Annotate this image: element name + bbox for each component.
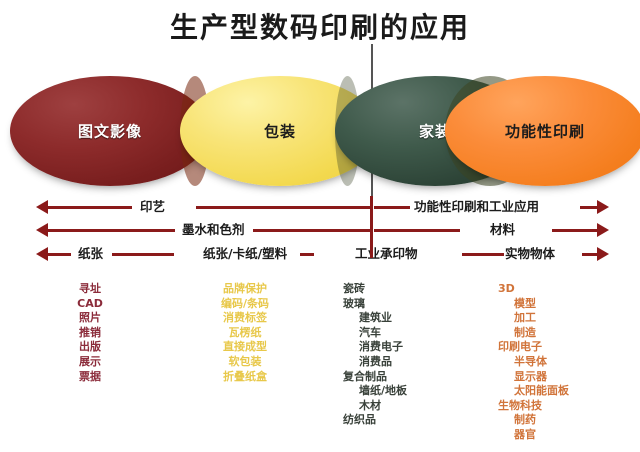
list-item: 消费标签 bbox=[165, 311, 325, 326]
list-item: 直接成型 bbox=[165, 340, 325, 355]
application-columns: 寻址CAD照片推销出版展示票据 品牌保护编码/条码消费标签瓦楞纸直接成型软包装折… bbox=[0, 282, 640, 452]
list-item: 纺织品 bbox=[325, 413, 485, 428]
list-item: CAD bbox=[10, 297, 170, 312]
arrow-label: 纸张/卡纸/塑料 bbox=[203, 243, 287, 264]
list-item: 建筑业 bbox=[325, 311, 485, 326]
list-item: 太阳能面板 bbox=[480, 384, 640, 399]
arrow-segment bbox=[47, 229, 175, 232]
column-baozhuang: 品牌保护编码/条码消费标签瓦楞纸直接成型软包装折叠纸盒 bbox=[165, 282, 325, 384]
list-item: 复合制品 bbox=[325, 370, 485, 385]
arrow-label: 实物物体 bbox=[505, 243, 555, 264]
arrow-label: 墨水和色剂 bbox=[182, 219, 245, 240]
ellipse-gongnengxingyinshua[interactable]: 功能性印刷 bbox=[445, 76, 640, 186]
list-item: 器官 bbox=[480, 428, 640, 443]
list-item: 软包装 bbox=[165, 355, 325, 370]
list-item: 推销 bbox=[10, 326, 170, 341]
list-item: 折叠纸盒 bbox=[165, 370, 325, 385]
arrow-segment bbox=[552, 229, 598, 232]
category-ellipse-group: 图文影像 包装 家装 功能性印刷 bbox=[0, 76, 640, 196]
list-item: 木材 bbox=[325, 399, 485, 414]
arrow-segment bbox=[374, 229, 460, 232]
column-jiazhuang: 瓷砖玻璃建筑业汽车消费电子消费品复合制品墙纸/地板木材纺织品 bbox=[325, 282, 485, 428]
list-item: 汽车 bbox=[325, 326, 485, 341]
arrow-segment bbox=[582, 253, 598, 256]
arrow-label: 印艺 bbox=[140, 196, 165, 217]
column-gongnengxingyinshua: 3D模型加工制造印刷电子半导体显示器太阳能面板生物科技制药器官 bbox=[480, 282, 640, 443]
list-item: 制造 bbox=[480, 326, 640, 341]
infographic-page: 生产型数码印刷的应用 图文影像 包装 家装 功能性印刷 印艺 功能性印刷和工业应… bbox=[0, 0, 640, 452]
list-item: 照片 bbox=[10, 311, 170, 326]
arrow-segment bbox=[374, 206, 410, 209]
arrow-label: 工业承印物 bbox=[355, 243, 418, 264]
list-item: 制药 bbox=[480, 413, 640, 428]
list-item: 印刷电子 bbox=[480, 340, 640, 355]
arrow-row-1: 印艺 功能性印刷和工业应用 bbox=[0, 196, 640, 218]
arrow-label: 纸张 bbox=[78, 243, 103, 264]
list-item: 生物科技 bbox=[480, 399, 640, 414]
arrow-axis-group: 印艺 功能性印刷和工业应用 墨水和色剂 材料 纸张 纸张/卡纸/塑料 bbox=[0, 196, 640, 262]
arrow-segment bbox=[580, 206, 598, 209]
list-item: 半导体 bbox=[480, 355, 640, 370]
list-item: 编码/条码 bbox=[165, 297, 325, 312]
list-item: 瓷砖 bbox=[325, 282, 485, 297]
list-item: 3D bbox=[480, 282, 640, 297]
arrow-segment bbox=[47, 253, 71, 256]
list-item: 品牌保护 bbox=[165, 282, 325, 297]
arrow-segment bbox=[196, 206, 371, 209]
arrow-segment bbox=[300, 253, 314, 256]
list-item: 玻璃 bbox=[325, 297, 485, 312]
arrow-head-right-icon bbox=[597, 200, 609, 214]
arrow-head-right-icon bbox=[597, 247, 609, 261]
list-item: 票据 bbox=[10, 370, 170, 385]
list-item: 出版 bbox=[10, 340, 170, 355]
list-item: 瓦楞纸 bbox=[165, 326, 325, 341]
list-item: 模型 bbox=[480, 297, 640, 312]
arrow-row-2: 墨水和色剂 材料 bbox=[0, 219, 640, 241]
ellipse-label: 功能性印刷 bbox=[445, 121, 640, 142]
list-item: 墙纸/地板 bbox=[325, 384, 485, 399]
page-title: 生产型数码印刷的应用 bbox=[0, 6, 640, 46]
arrow-row-3: 纸张 纸张/卡纸/塑料 工业承印物 实物物体 bbox=[0, 243, 640, 265]
arrow-segment bbox=[112, 253, 174, 256]
column-tuwenyingxiang: 寻址CAD照片推销出版展示票据 bbox=[10, 282, 170, 384]
list-item: 消费品 bbox=[325, 355, 485, 370]
arrow-label: 材料 bbox=[490, 219, 515, 240]
arrow-label: 功能性印刷和工业应用 bbox=[414, 196, 539, 217]
list-item: 显示器 bbox=[480, 370, 640, 385]
list-item: 寻址 bbox=[10, 282, 170, 297]
arrow-head-right-icon bbox=[597, 223, 609, 237]
list-item: 加工 bbox=[480, 311, 640, 326]
arrow-segment bbox=[462, 253, 504, 256]
list-item: 消费电子 bbox=[325, 340, 485, 355]
arrow-segment bbox=[47, 206, 132, 209]
arrow-segment bbox=[253, 229, 371, 232]
vertical-divider-arrows bbox=[370, 196, 373, 258]
list-item: 展示 bbox=[10, 355, 170, 370]
